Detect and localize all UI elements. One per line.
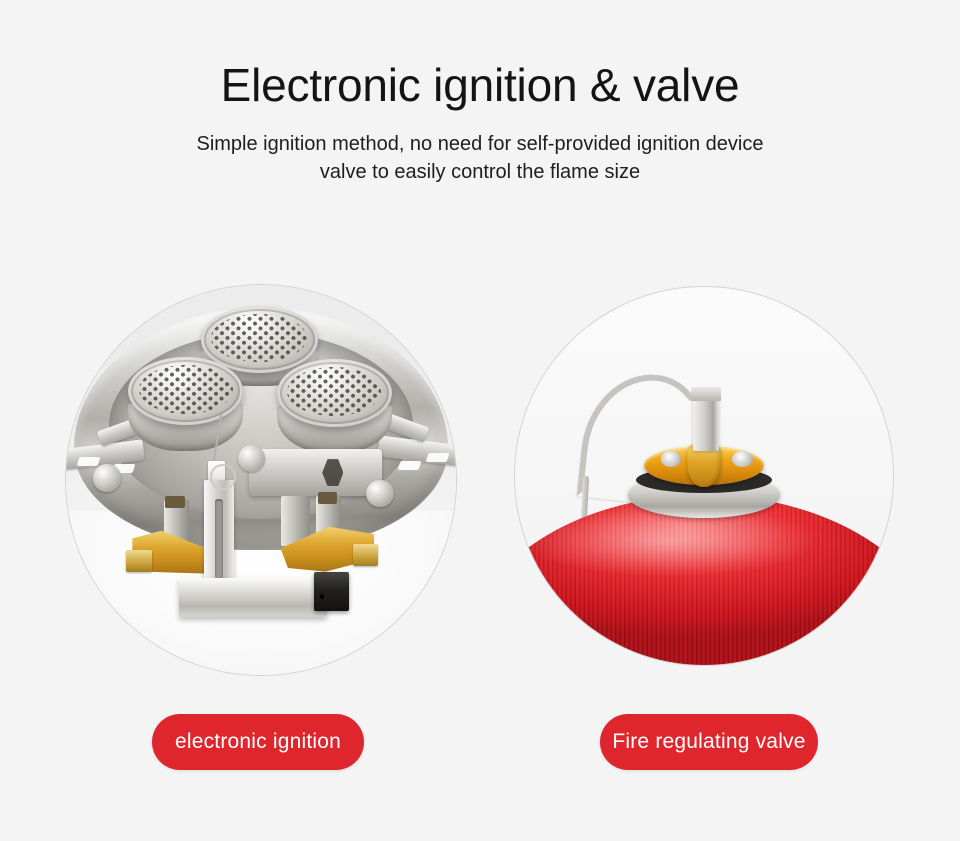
stem-cap bbox=[165, 496, 185, 508]
center-bracket-plate bbox=[249, 449, 382, 496]
burner-cap-rim bbox=[277, 359, 392, 427]
lever-slot bbox=[215, 499, 224, 579]
brand-label: MOUSU CAMPING bbox=[792, 626, 893, 665]
valve-stem bbox=[693, 397, 719, 452]
gas-canister-photo: ✕ MOUSU CAMPING M bbox=[515, 287, 893, 665]
piezo-ignition-button bbox=[314, 572, 349, 611]
lever-ring bbox=[210, 464, 235, 489]
hex-hole bbox=[322, 459, 343, 486]
stove-burner-photo bbox=[66, 285, 456, 675]
caption-fire-regulating-valve: Fire regulating valve bbox=[600, 714, 818, 770]
stem-cap bbox=[318, 492, 338, 504]
arm-notch bbox=[425, 453, 449, 462]
rivet-stud bbox=[93, 464, 120, 491]
brass-nut bbox=[353, 544, 378, 565]
valve-screw bbox=[661, 451, 682, 466]
burner-cap-perforated bbox=[277, 359, 392, 427]
rivet-stud bbox=[366, 480, 393, 507]
stove-scene bbox=[66, 285, 456, 675]
brass-nut bbox=[126, 550, 151, 571]
red-gas-canister: ✕ MOUSU CAMPING M bbox=[515, 495, 893, 665]
arm-notch bbox=[398, 461, 422, 470]
valve-screw bbox=[732, 451, 753, 466]
caption-electronic-ignition: electronic ignition bbox=[152, 714, 364, 770]
canister-scene: ✕ MOUSU CAMPING M bbox=[515, 287, 893, 665]
burner-body-bar bbox=[179, 578, 327, 617]
valve-stem-nut bbox=[691, 387, 721, 401]
rivet-stud bbox=[238, 445, 265, 472]
arm-notch bbox=[76, 457, 100, 466]
photo-panels: electronic ignition bbox=[0, 0, 960, 841]
